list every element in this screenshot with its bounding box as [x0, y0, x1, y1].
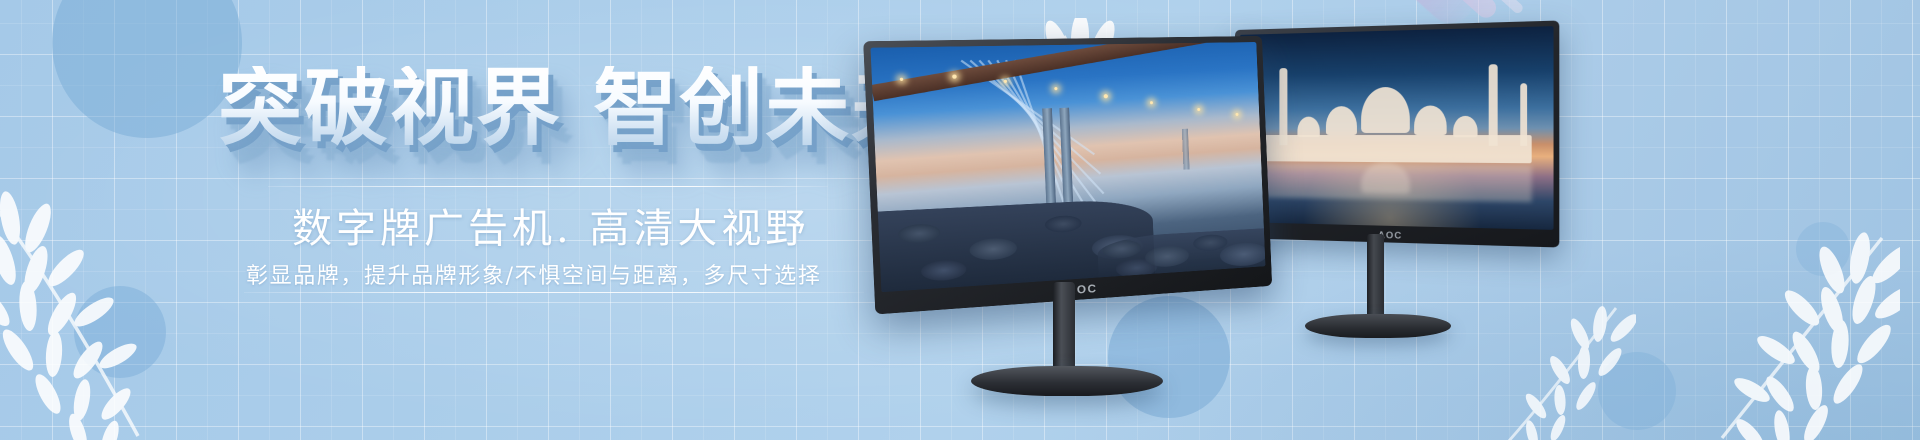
monitor-front-bezel: AOC: [863, 36, 1272, 315]
monitor-back-stand-base: [1305, 314, 1451, 338]
subtitle: 数字牌广告机. 高清大视野: [292, 196, 809, 254]
product-monitors: AOC: [880, 0, 1920, 440]
monitor-back-bezel: AOC: [1235, 21, 1559, 248]
monitor-front-stand-neck: [1053, 282, 1075, 374]
monitor-back-stand-neck: [1367, 234, 1384, 320]
divider-top: [268, 186, 828, 187]
banner-text-block: 突破视界 智创未来 数字牌广告机. 高清大视野 彰显品牌，提升品牌形象/不惧空间…: [0, 0, 900, 440]
tagline: 彰显品牌，提升品牌形象/不惧空间与距离，多尺寸选择: [246, 258, 821, 290]
promo-banner: 突破视界 智创未来 数字牌广告机. 高清大视野 彰显品牌，提升品牌形象/不惧空间…: [0, 0, 1920, 440]
monitor-back-screen: [1240, 26, 1554, 230]
monitor-front: AOC: [895, 36, 1270, 396]
monitor-front-stand-base: [971, 366, 1163, 396]
page-title: 突破视界 智创未来: [218, 66, 937, 152]
divider-bottom: [244, 292, 864, 293]
monitor-front-screen: [870, 42, 1265, 292]
monitor-back: AOC: [1235, 30, 1540, 360]
